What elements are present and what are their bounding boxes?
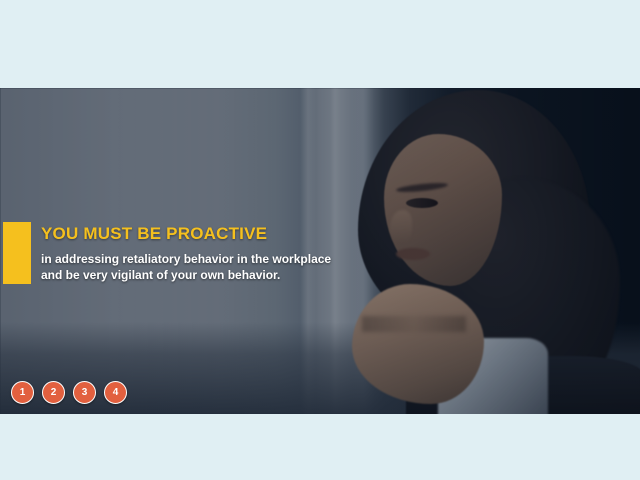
caption-overlay: YOU MUST BE PROACTIVE in addressing reta… <box>3 222 331 284</box>
pagination-item-1[interactable]: 1 <box>11 381 34 404</box>
caption-accent-bar <box>3 222 31 284</box>
caption-line-one: in addressing retaliatory behavior in th… <box>41 251 331 268</box>
app-header: TrainingBriefs® Managing Retaliation Sit… <box>0 52 640 88</box>
caption-text-block: YOU MUST BE PROACTIVE in addressing reta… <box>41 222 331 284</box>
video-stage[interactable]: YOU MUST BE PROACTIVE in addressing reta… <box>0 88 640 414</box>
pagination-controls: 1 2 3 4 <box>11 381 127 404</box>
pagination-item-3[interactable]: 3 <box>73 381 96 404</box>
caption-line-two: and be very vigilant of your own behavio… <box>41 267 331 284</box>
pagination-item-4[interactable]: 4 <box>104 381 127 404</box>
pagination-item-2[interactable]: 2 <box>42 381 65 404</box>
training-player-window: TrainingBriefs® Managing Retaliation Sit… <box>0 0 640 480</box>
caption-headline: YOU MUST BE PROACTIVE <box>41 224 331 244</box>
